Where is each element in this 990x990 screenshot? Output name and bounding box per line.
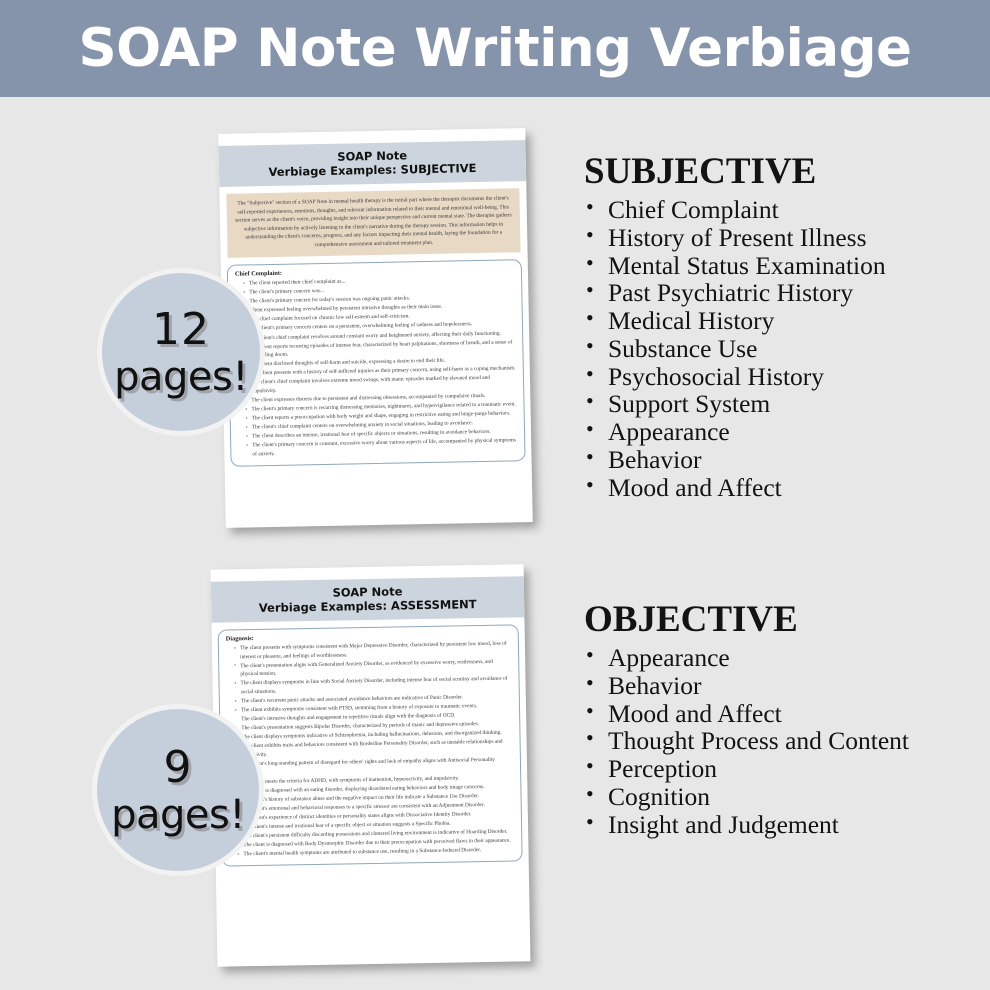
list-item: Appearance bbox=[584, 644, 984, 672]
badge-label: pages! bbox=[111, 795, 245, 835]
list-item: Substance Use bbox=[584, 335, 984, 363]
list-item: Cognition bbox=[584, 783, 984, 811]
list-item: Insight and Judgement bbox=[584, 811, 984, 839]
list-item: Past Psychiatric History bbox=[584, 279, 984, 307]
page-count-badge-9: 9 pages! bbox=[92, 704, 264, 876]
page-title: SOAP Note Writing Verbiage bbox=[78, 18, 911, 79]
badge-number: 12 bbox=[152, 308, 210, 352]
list-item: Psychosocial History bbox=[584, 363, 984, 391]
document-bullet-list: The client presents with symptoms consis… bbox=[226, 640, 515, 860]
page-count-badge-12: 12 pages! bbox=[97, 268, 265, 436]
list-item: Perception bbox=[584, 755, 984, 783]
list-item: Chief Complaint bbox=[584, 196, 984, 224]
document-intro-paragraph: The "Subjective" section of a SOAP Note … bbox=[226, 188, 520, 258]
badge-label: pages! bbox=[114, 357, 248, 397]
list-item: Medical History bbox=[584, 307, 984, 335]
subjective-section: SUBJECTIVE Chief Complaint History of Pr… bbox=[584, 150, 984, 502]
subjective-heading: SUBJECTIVE bbox=[584, 150, 984, 193]
badge-number: 9 bbox=[164, 746, 193, 790]
document-header-band: SOAP Note Verbiage Examples: ASSESSMENT bbox=[211, 576, 525, 622]
objective-list: Appearance Behavior Mood and Affect Thou… bbox=[584, 644, 984, 838]
list-item: History of Present Illness bbox=[584, 224, 984, 252]
list-item: Mental Status Examination bbox=[584, 252, 984, 280]
document-bullet-list: The client reported their chief complain… bbox=[235, 275, 517, 460]
list-item: Mood and Affect bbox=[584, 700, 984, 728]
page-header-banner: SOAP Note Writing Verbiage bbox=[0, 0, 990, 97]
subjective-list: Chief Complaint History of Present Illne… bbox=[584, 196, 984, 502]
objective-section: OBJECTIVE Appearance Behavior Mood and A… bbox=[584, 598, 984, 838]
document-preview-subjective[interactable]: SOAP Note Verbiage Examples: SUBJECTIVE … bbox=[218, 128, 533, 528]
list-item: Support System bbox=[584, 390, 984, 418]
document-bullet-panel: Diagnosis: The client presents with symp… bbox=[218, 624, 523, 866]
list-item: Behavior bbox=[584, 446, 984, 474]
document-header-band: SOAP Note Verbiage Examples: SUBJECTIVE bbox=[218, 140, 526, 187]
list-item: Appearance bbox=[584, 418, 984, 446]
list-item: Thought Process and Content bbox=[584, 727, 984, 755]
objective-heading: OBJECTIVE bbox=[584, 598, 984, 641]
list-item: Behavior bbox=[584, 672, 984, 700]
document-bullet-panel: Chief Complaint: The client reported the… bbox=[227, 259, 526, 466]
list-item: Mood and Affect bbox=[584, 474, 984, 502]
